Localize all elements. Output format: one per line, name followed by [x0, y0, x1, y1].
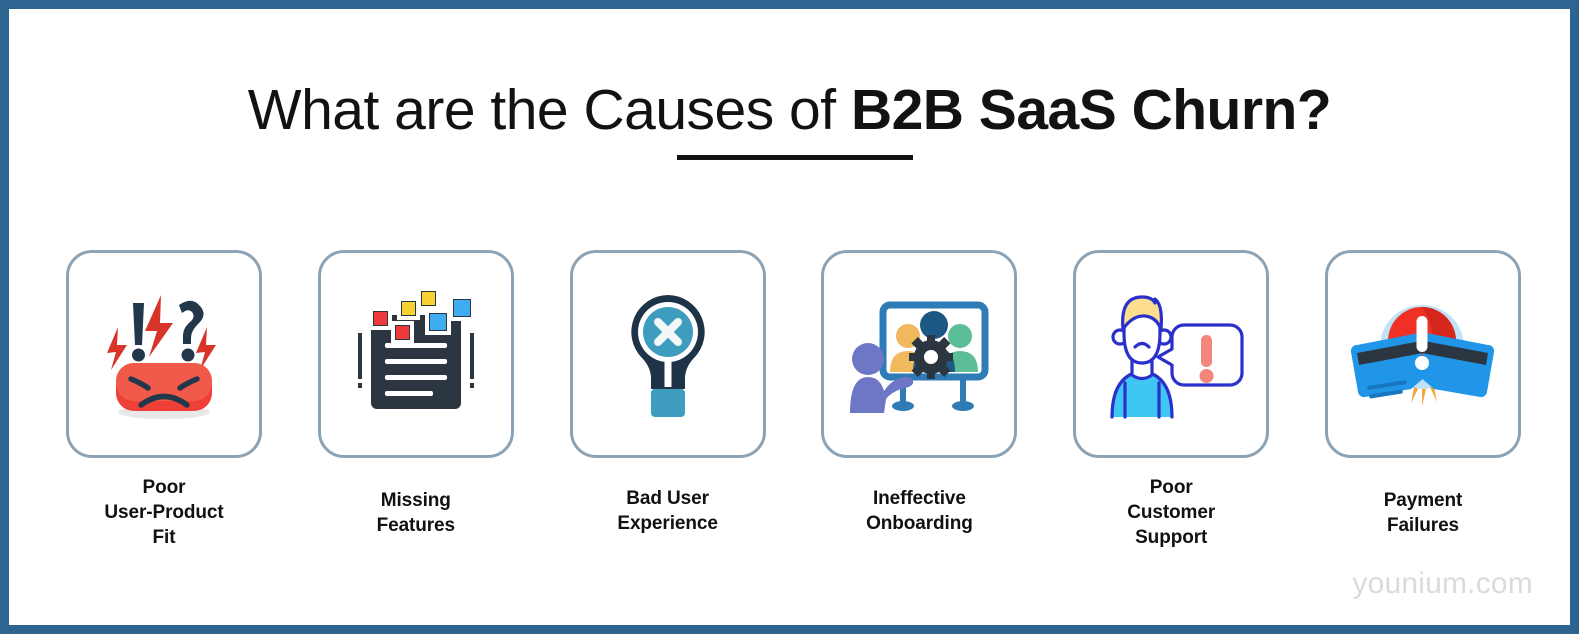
broken-credit-card-alert-icon	[1345, 279, 1500, 429]
cause-label-line: User-Product	[104, 500, 223, 525]
lightbulb-error-icon	[593, 279, 743, 429]
cause-label-line: Features	[377, 513, 455, 538]
icon-card[interactable]	[570, 250, 766, 458]
cause-label-line: Bad User	[617, 486, 717, 511]
title-underline	[677, 155, 913, 160]
cause-label: Payment Failures	[1384, 488, 1463, 538]
page-title-bold: B2B SaaS Churn?	[851, 78, 1331, 142]
cause-label-line: Experience	[617, 511, 717, 536]
cause-label-line: Payment	[1384, 488, 1463, 513]
cause-label: Poor Customer Support	[1127, 475, 1215, 550]
icon-card[interactable]	[66, 250, 262, 458]
page-title: What are the Causes of B2B SaaS Churn?	[9, 77, 1570, 143]
cause-item-ineffective-onboarding[interactable]: Ineffective Onboarding	[821, 250, 1017, 550]
icon-card[interactable]	[821, 250, 1017, 458]
icon-card[interactable]	[1073, 250, 1269, 458]
cause-label-line: Poor	[104, 475, 223, 500]
cause-item-bad-user-experience[interactable]: Bad User Experience	[570, 250, 766, 550]
cause-card-row: Poor User-Product Fit	[66, 250, 1521, 550]
cause-label-line: Ineffective	[866, 486, 973, 511]
cause-label-line: Customer	[1127, 500, 1215, 525]
title-block: What are the Causes of B2B SaaS Churn?	[9, 77, 1570, 143]
cause-label-line: Failures	[1384, 513, 1463, 538]
angry-face-icon	[89, 279, 239, 429]
presentation-training-icon	[842, 279, 997, 429]
cause-label: Poor User-Product Fit	[104, 475, 223, 550]
cause-label: Bad User Experience	[617, 486, 717, 536]
cause-label-line: Fit	[104, 525, 223, 550]
icon-card[interactable]	[1325, 250, 1521, 458]
cause-item-payment-failures[interactable]: Payment Failures	[1325, 250, 1521, 550]
cause-label-line: Onboarding	[866, 511, 973, 536]
cause-item-missing-features[interactable]: Missing Features	[318, 250, 514, 550]
cause-item-poor-user-product-fit[interactable]: Poor User-Product Fit	[66, 250, 262, 550]
infographic-frame: What are the Causes of B2B SaaS Churn?	[0, 0, 1579, 634]
page-title-light: What are the Causes of	[248, 78, 851, 142]
cause-item-poor-customer-support[interactable]: Poor Customer Support	[1073, 250, 1269, 550]
cause-label: Ineffective Onboarding	[866, 486, 973, 536]
cause-label-line: Poor	[1127, 475, 1215, 500]
watermark: younium.com	[1352, 567, 1533, 601]
document-checklist-icon	[341, 279, 491, 429]
cause-label-line: Support	[1127, 525, 1215, 550]
cause-label-line: Missing	[377, 488, 455, 513]
icon-card[interactable]	[318, 250, 514, 458]
cause-label: Missing Features	[377, 488, 455, 538]
unhappy-person-speech-bubble-icon	[1094, 279, 1249, 429]
